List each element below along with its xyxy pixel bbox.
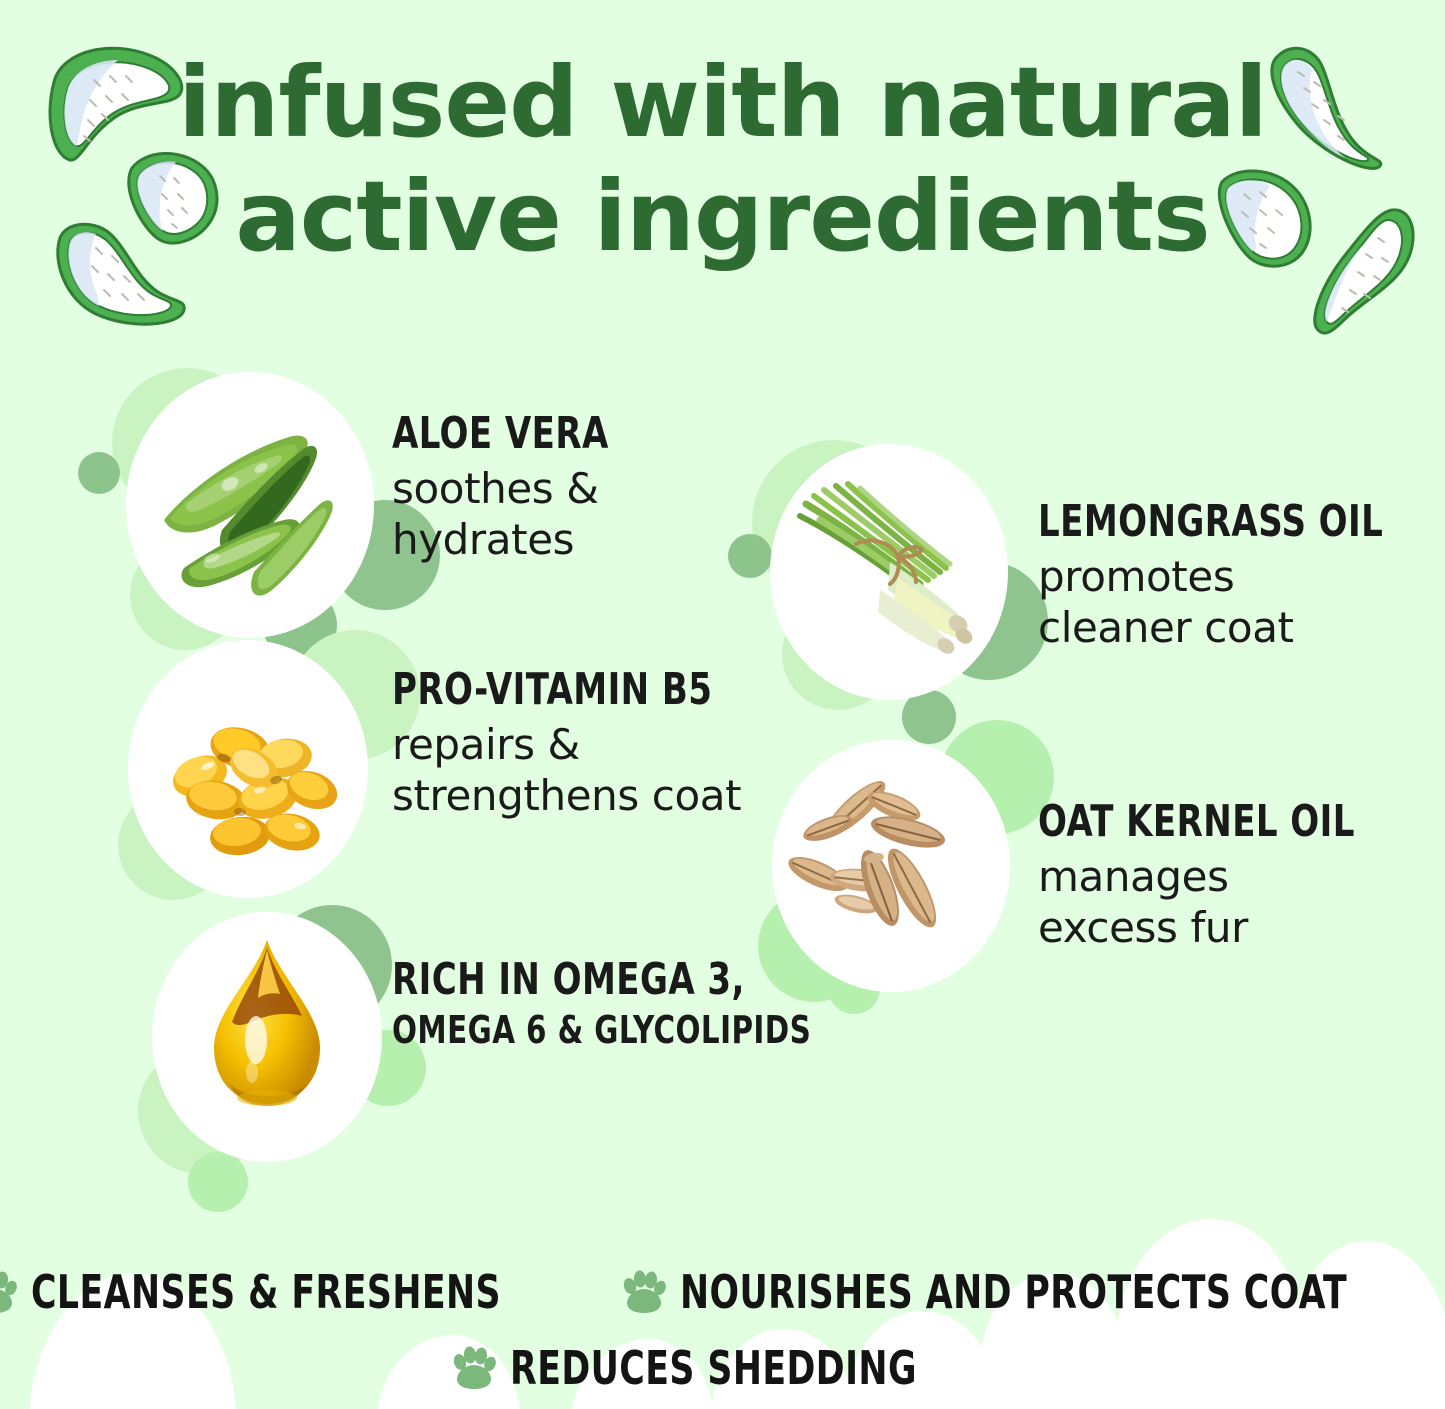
ingredient-text-pro-vitamin-b5: PRO-VITAMIN B5 repairs & strengthens coa…	[392, 668, 862, 821]
ingredient-desc-line: strengthens coat	[392, 770, 862, 821]
paw-print-icon	[620, 1269, 666, 1315]
ingredient-description: soothes & hydrates	[392, 463, 822, 565]
ingredient-description: repairs & strengthens coat	[392, 719, 862, 821]
benefit-label: REDUCES SHEDDING	[510, 1341, 917, 1395]
ingredient-desc-line: hydrates	[392, 514, 822, 565]
paw-print-icon	[450, 1345, 496, 1391]
ingredient-desc-line: repairs &	[392, 719, 862, 770]
ingredient-subtitle: OMEGA 6 & GLYCOLIPIDS	[392, 1011, 788, 1050]
benefits-row-2: REDUCES SHEDDING	[0, 1341, 1445, 1395]
headline-line-1: infused with natural	[0, 46, 1445, 160]
ingredient-desc-line: promotes	[1038, 551, 1445, 602]
ingredient-photo-aloe-vera	[126, 372, 374, 638]
aloe-slice-icon	[52, 216, 192, 336]
benefit-label: CLEANSES & FRESHENS	[31, 1265, 501, 1319]
ingredient-photo-pro-vitamin-b5	[128, 640, 368, 898]
aloe-slice-icon	[1262, 42, 1390, 170]
ingredient-title: PRO-VITAMIN B5	[392, 668, 796, 713]
benefits-bar: CLEANSES & FRESHENS NOURISHES AND PROTEC…	[0, 1265, 1445, 1409]
ingredient-text-omega: RICH IN OMEGA 3, OMEGA 6 & GLYCOLIPIDS	[392, 958, 852, 1050]
ingredient-text-aloe-vera: ALOE VERA soothes & hydrates	[392, 412, 822, 565]
ingredient-title: ALOE VERA	[392, 412, 762, 457]
ingredient-title: RICH IN OMEGA 3,	[392, 958, 788, 1003]
ingredient-desc-line: excess fur	[1038, 902, 1445, 953]
benefit-item: NOURISHES AND PROTECTS COAT	[620, 1265, 1445, 1319]
ingredient-description: manages excess fur	[1038, 851, 1445, 953]
benefits-row-1: CLEANSES & FRESHENS NOURISHES AND PROTEC…	[0, 1265, 1445, 1319]
infographic-canvas: infused with natural active ingredients	[0, 0, 1445, 1409]
benefit-item: REDUCES SHEDDING	[450, 1341, 994, 1395]
ingredient-description: promotes cleaner coat	[1038, 551, 1445, 653]
ingredient-text-lemongrass-oil: LEMONGRASS OIL promotes cleaner coat	[1038, 500, 1445, 653]
ingredient-title: OAT KERNEL OIL	[1038, 800, 1399, 845]
ingredient-desc-line: cleaner coat	[1038, 602, 1445, 653]
ingredient-photo-omega	[152, 912, 382, 1162]
ingredient-desc-line: soothes &	[392, 463, 822, 514]
paw-print-icon	[0, 1269, 17, 1315]
deco-circle-sage	[78, 452, 120, 494]
ingredient-desc-line: manages	[1038, 851, 1445, 902]
aloe-slice-icon	[1296, 202, 1426, 337]
benefit-label: NOURISHES AND PROTECTS COAT	[680, 1265, 1347, 1319]
benefit-item: CLEANSES & FRESHENS	[0, 1265, 590, 1319]
ingredient-title: LEMONGRASS OIL	[1038, 500, 1399, 545]
ingredient-text-oat-kernel-oil: OAT KERNEL OIL manages excess fur	[1038, 800, 1445, 953]
